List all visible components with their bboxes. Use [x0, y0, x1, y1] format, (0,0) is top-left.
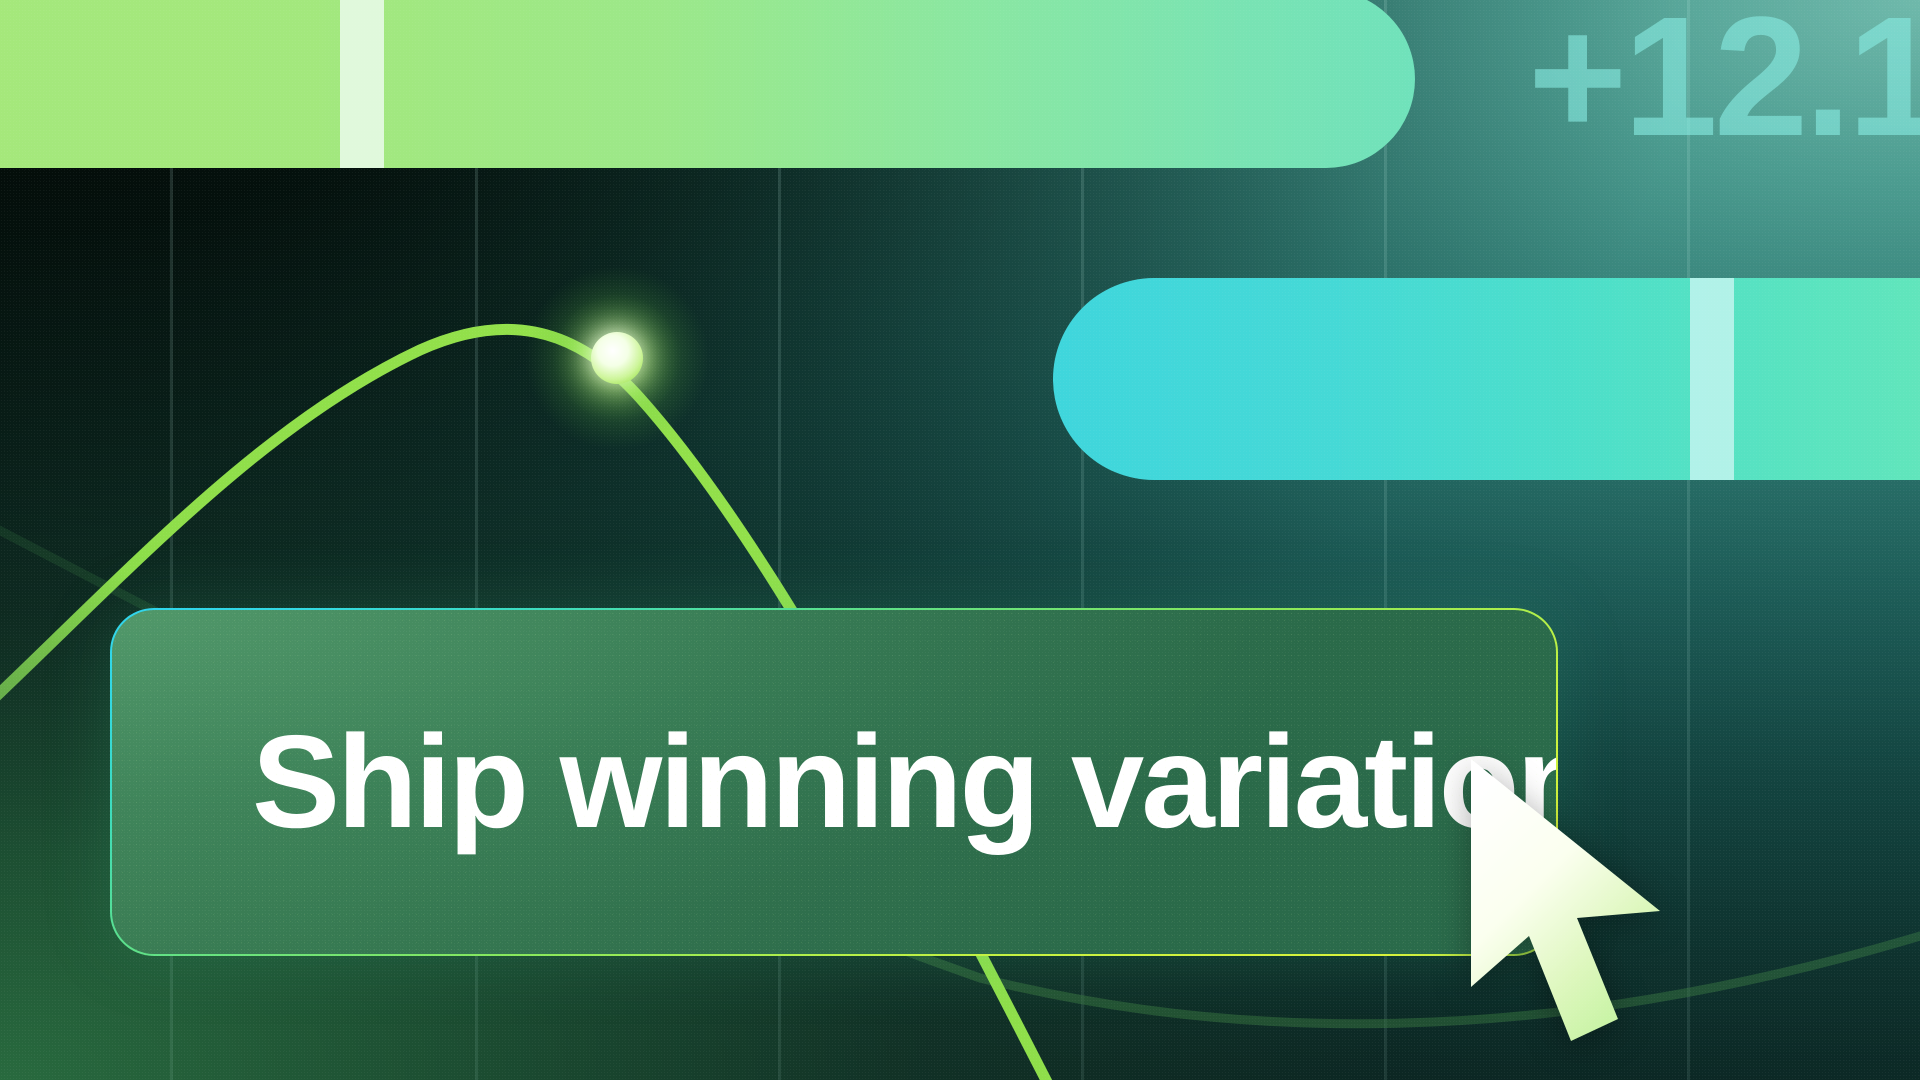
- data-point-marker[interactable]: [591, 332, 643, 384]
- ship-winning-variation-button[interactable]: Ship winning variation: [110, 608, 1558, 956]
- bar-variation-a: [1053, 278, 1920, 480]
- bar-variation-a-highlight: [1690, 278, 1734, 480]
- ship-winning-variation-button-surface[interactable]: Ship winning variation: [112, 610, 1556, 954]
- ship-winning-variation-label: Ship winning variation: [252, 716, 1556, 848]
- screenshot-canvas: +12.1: [0, 0, 1920, 1080]
